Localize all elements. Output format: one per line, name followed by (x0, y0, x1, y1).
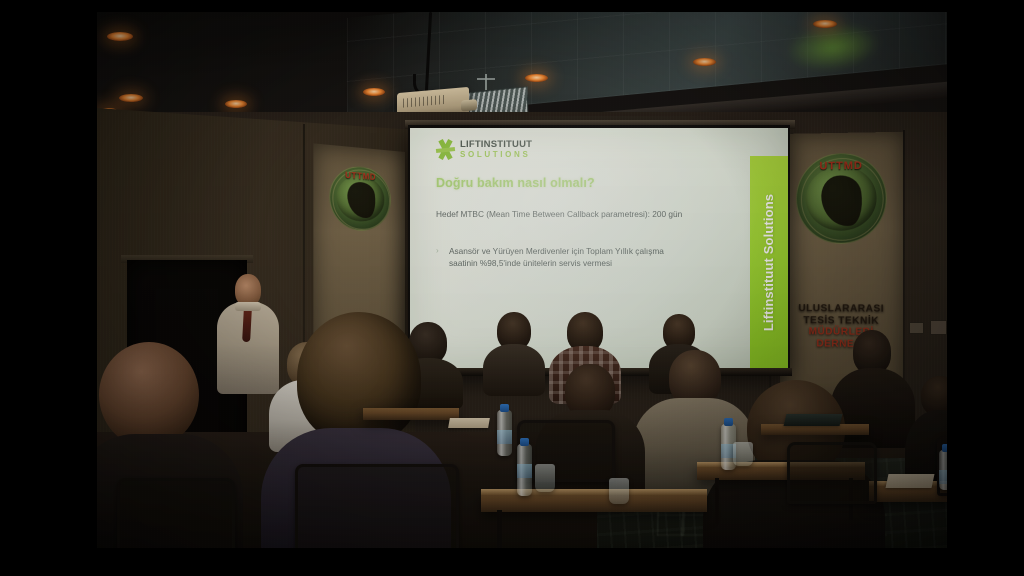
wall-socket-plate[interactable] (930, 320, 947, 335)
downlight-icon (363, 88, 385, 96)
table-edge (481, 489, 707, 495)
bottle-cap (520, 438, 529, 446)
slide-bullet-text: Asansör ve Yürüyen Merdivenler için Topl… (449, 246, 664, 268)
water-bottle[interactable] (497, 410, 512, 456)
ceiling-green-reflection (787, 20, 879, 74)
downlight-icon (119, 94, 143, 102)
uttmd-wordmark: UTTMD (797, 160, 886, 173)
slide-title: Doğru bakım nasıl olmalı? (436, 176, 595, 190)
seminar-room: UTTMD ULUSLARARASI TESİS TEKNİK MÜDÜRLER… (97, 12, 947, 548)
letterbox-right (947, 0, 1024, 576)
slide-logo: LIFTINSTITUUT SOLUTIONS (436, 140, 532, 159)
water-bottle[interactable] (517, 444, 532, 496)
slide-logo-sub: SOLUTIONS (460, 151, 532, 159)
table-leg (715, 478, 719, 524)
presenter-collar (235, 302, 261, 311)
slide-body-paragraph: Hedef MTBC (Mean Time Between Callback p… (436, 208, 686, 220)
slide-side-band-text: Liftinstituut Solutions (762, 193, 777, 330)
bottle-cap (500, 404, 509, 412)
projector-vents (403, 95, 447, 108)
drinking-glass[interactable] (609, 478, 629, 504)
liftinstituut-x-mark-icon (436, 140, 455, 159)
slide-side-band: Liftinstituut Solutions (750, 156, 788, 368)
uttmd-logo-icon: UTTMD (329, 164, 391, 232)
foreground-head (99, 342, 199, 448)
seminar-table (481, 492, 707, 512)
drinking-glass[interactable] (733, 442, 753, 466)
uttmd-logo-icon: UTTMD (796, 152, 887, 244)
letterbox-top (0, 0, 1024, 12)
letterbox-bottom (0, 548, 1024, 576)
chair-back[interactable] (117, 478, 235, 548)
foreground-head (297, 312, 421, 444)
chevron-right-icon: › (436, 245, 439, 257)
letterbox-left (0, 0, 97, 576)
water-bottle[interactable] (939, 450, 947, 490)
notepad[interactable] (886, 474, 935, 488)
downlight-icon (525, 74, 548, 82)
notepad[interactable] (448, 418, 490, 428)
downlight-icon (693, 58, 716, 66)
slide-logo-brand: LIFTINSTITUUT (460, 140, 532, 150)
table-leg (497, 510, 502, 548)
drinking-glass[interactable] (535, 464, 555, 492)
vent-hanger (485, 74, 487, 90)
laptop-lid[interactable] (784, 414, 843, 426)
downlight-icon (813, 20, 837, 28)
slide-body-text: Hedef MTBC (Mean Time Between Callback p… (436, 208, 686, 220)
banner-line: ULUSLARARASI (780, 303, 903, 316)
photograph: UTTMD ULUSLARARASI TESİS TEKNİK MÜDÜRLER… (0, 0, 1024, 576)
downlight-icon (107, 32, 133, 41)
banner-line: TESİS TEKNİK (780, 315, 903, 328)
chair-back[interactable] (787, 442, 877, 504)
slide-bullet-item: › Asansör ve Yürüyen Merdivenler için To… (436, 245, 694, 270)
bottle-cap (724, 418, 733, 426)
chair-back[interactable] (295, 464, 459, 548)
vent-hanger-cross (477, 78, 495, 80)
seminar-table (363, 408, 459, 420)
bottle-label (497, 430, 512, 444)
slide-bullet-list: › Asansör ve Yürüyen Merdivenler için To… (436, 245, 694, 270)
bottle-label (517, 464, 532, 478)
bottle-label (939, 470, 947, 484)
projector-lens-icon (461, 99, 477, 111)
downlight-icon (225, 100, 247, 108)
